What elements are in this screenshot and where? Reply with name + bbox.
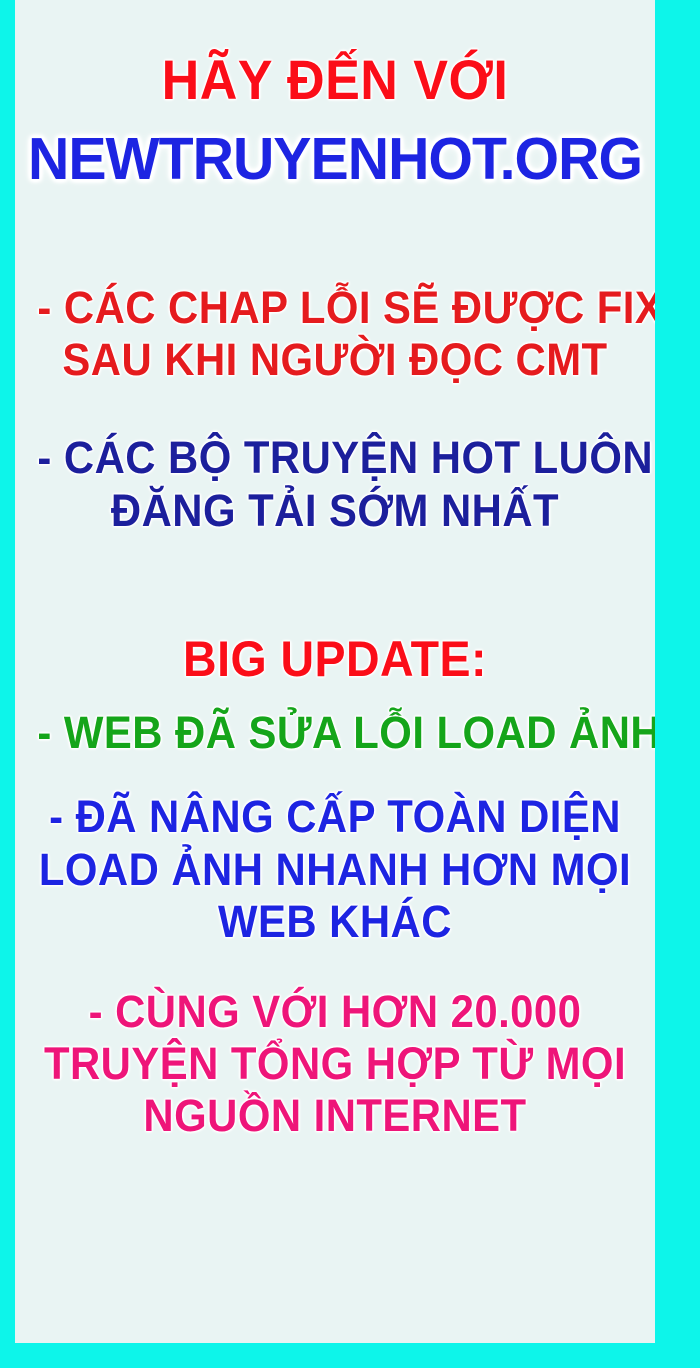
update-item-line: TRUYỆN TỔNG HỢP TỪ MỌI (37, 1038, 632, 1090)
update-item-line: - ĐÃ NÂNG CẤP TOÀN DIỆN (37, 791, 632, 843)
announcement-banner: HÃY ĐẾN VỚI NEWTRUYENHOT.ORG - CÁC CHAP … (0, 0, 700, 1368)
site-name-text[interactable]: NEWTRUYENHOT.ORG (25, 130, 646, 189)
notice-line: ĐĂNG TẢI SỚM NHẤT (37, 485, 632, 537)
update-item-line: NGUỒN INTERNET (37, 1090, 632, 1142)
spacer-before-update (15, 537, 655, 633)
tagline-text: HÃY ĐẾN VỚI (37, 52, 632, 108)
spacer-after-item-2 (15, 948, 655, 986)
update-item-image-load-fix: - WEB ĐÃ SỬA LỖI LOAD ẢNH (15, 707, 655, 759)
update-item-catalog-size: - CÙNG VỚI HƠN 20.000 TRUYỆN TỔNG HỢP TỪ… (15, 986, 655, 1143)
update-item-line: - WEB ĐÃ SỬA LỖI LOAD ẢNH (37, 707, 632, 759)
content-stack: HÃY ĐẾN VỚI NEWTRUYENHOT.ORG - CÁC CHAP … (15, 0, 655, 1143)
update-section-title: BIG UPDATE: (37, 633, 632, 686)
spacer-after-item-1 (15, 759, 655, 791)
notice-line: SAU KHI NGƯỜI ĐỌC CMT (37, 334, 632, 386)
update-item-line: LOAD ẢNH NHANH HƠN MỌI (37, 844, 632, 896)
announcement-panel: HÃY ĐẾN VỚI NEWTRUYENHOT.ORG - CÁC CHAP … (15, 0, 655, 1343)
update-item-full-upgrade: - ĐÃ NÂNG CẤP TOÀN DIỆN LOAD ẢNH NHANH H… (15, 791, 655, 948)
spacer-between-notices (15, 386, 655, 432)
spacer-after-update-title (15, 685, 655, 707)
notice-fix-notice: - CÁC CHAP LỖI SẼ ĐƯỢC FIX SAU KHI NGƯỜI… (15, 282, 655, 386)
notice-line: - CÁC CHAP LỖI SẼ ĐƯỢC FIX (37, 282, 632, 334)
update-item-line: - CÙNG VỚI HƠN 20.000 (37, 986, 632, 1038)
notice-hot-series-notice: - CÁC BỘ TRUYỆN HOT LUÔN ĐĂNG TẢI SỚM NH… (15, 432, 655, 536)
spacer-after-header (15, 189, 655, 282)
update-item-line: WEB KHÁC (37, 896, 632, 948)
notice-line: - CÁC BỘ TRUYỆN HOT LUÔN (37, 432, 632, 484)
